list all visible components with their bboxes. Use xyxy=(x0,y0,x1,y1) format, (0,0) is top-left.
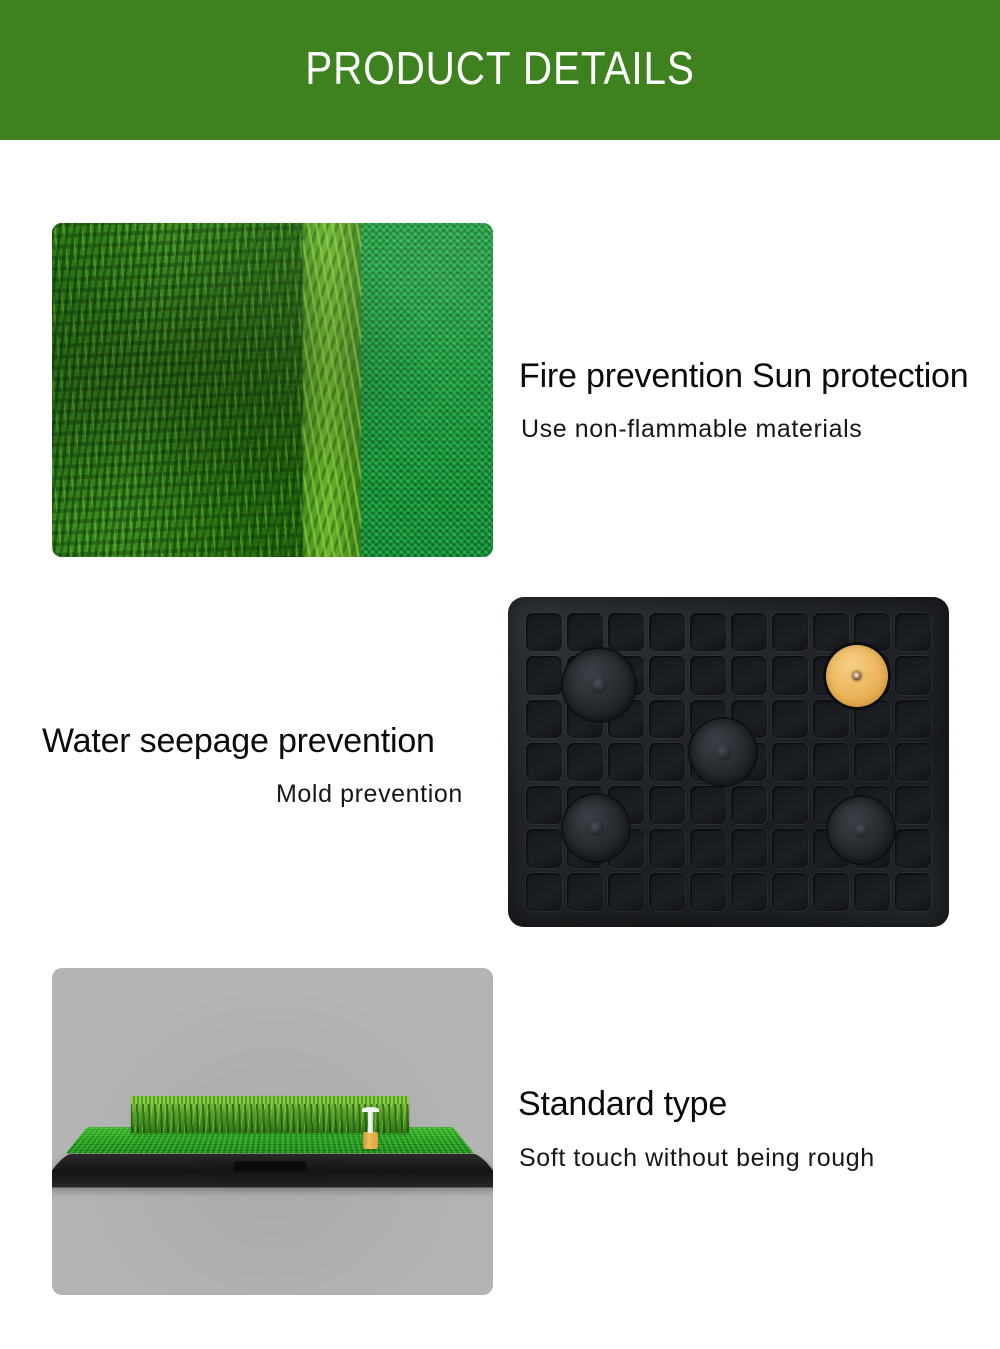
rubber-mat-disc xyxy=(828,797,894,863)
rubber-cell xyxy=(526,656,562,694)
rubber-base-mat-image xyxy=(508,597,949,927)
rubber-cell xyxy=(895,743,931,781)
rubber-cell xyxy=(608,613,644,651)
rubber-cell xyxy=(526,700,562,738)
rubber-cell xyxy=(813,613,849,651)
rubber-cell xyxy=(690,613,726,651)
rubber-mat-disc xyxy=(690,719,756,785)
rubber-cell xyxy=(567,743,603,781)
rubber-cell xyxy=(772,700,808,738)
section-headline-fire-prevention: Fire prevention Sun protection xyxy=(519,356,968,396)
rubber-cell xyxy=(895,700,931,738)
rubber-cell xyxy=(649,873,685,911)
section-subline-water-seepage: Mold prevention xyxy=(276,778,463,810)
rubber-cell xyxy=(690,829,726,867)
rubber-cell xyxy=(895,656,931,694)
rubber-cell xyxy=(854,873,890,911)
rubber-cell xyxy=(772,613,808,651)
rubber-cell xyxy=(526,873,562,911)
section-subline-fire-prevention: Use non-flammable materials xyxy=(521,413,862,445)
rubber-cell xyxy=(526,786,562,824)
rubber-cell xyxy=(690,656,726,694)
turf-closeup-image xyxy=(52,223,493,557)
rubber-cell xyxy=(772,873,808,911)
golf-practice-mat-image xyxy=(52,968,493,1295)
rubber-cell xyxy=(608,743,644,781)
rubber-tee-holder-disc xyxy=(826,645,888,707)
rubber-cell xyxy=(690,786,726,824)
rubber-cell xyxy=(608,873,644,911)
rubber-cell xyxy=(649,743,685,781)
rubber-cell xyxy=(854,743,890,781)
rubber-cell xyxy=(772,743,808,781)
backdrop-vignette xyxy=(52,968,493,1295)
section-subline-standard-type: Soft touch without being rough xyxy=(519,1142,875,1174)
rubber-cell xyxy=(649,786,685,824)
rubber-cell xyxy=(567,613,603,651)
rubber-cell xyxy=(526,613,562,651)
rubber-cell xyxy=(649,700,685,738)
rubber-cell xyxy=(649,829,685,867)
rubber-cell xyxy=(895,786,931,824)
rubber-cell xyxy=(772,786,808,824)
product-details-banner: PRODUCT DETAILS xyxy=(0,0,1000,140)
rubber-cell xyxy=(731,656,767,694)
turf-shading-overlay xyxy=(52,223,493,557)
rubber-cell xyxy=(895,613,931,651)
rubber-cell xyxy=(649,613,685,651)
rubber-cell xyxy=(731,786,767,824)
rubber-cell xyxy=(813,700,849,738)
rubber-cell xyxy=(772,829,808,867)
rubber-cell xyxy=(567,873,603,911)
rubber-cell xyxy=(649,656,685,694)
rubber-cell xyxy=(772,656,808,694)
page-title: PRODUCT DETAILS xyxy=(60,38,940,98)
rubber-cell xyxy=(813,743,849,781)
rubber-mat-body xyxy=(508,597,949,927)
section-headline-standard-type: Standard type xyxy=(518,1084,727,1124)
section-headline-water-seepage: Water seepage prevention xyxy=(42,721,435,761)
rubber-cell xyxy=(690,873,726,911)
rubber-cell xyxy=(731,613,767,651)
rubber-cell xyxy=(731,873,767,911)
rubber-cell xyxy=(813,873,849,911)
rubber-cell xyxy=(895,873,931,911)
studio-grey-backdrop xyxy=(52,968,493,1295)
rubber-mat-disc xyxy=(563,795,629,861)
rubber-cell xyxy=(526,829,562,867)
rubber-cell xyxy=(526,743,562,781)
rubber-cell xyxy=(731,829,767,867)
rubber-cell xyxy=(895,829,931,867)
rubber-mat-disc xyxy=(563,649,635,721)
